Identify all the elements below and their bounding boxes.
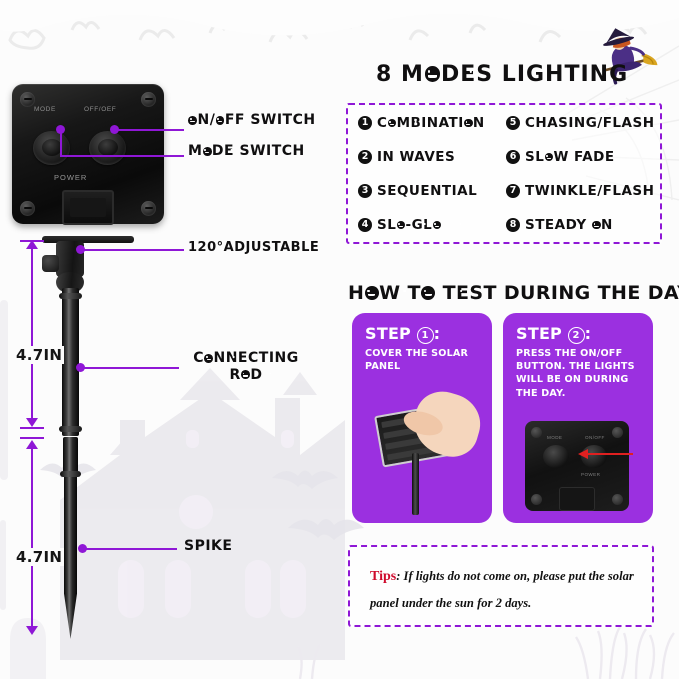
screw-icon (20, 201, 35, 216)
joint-knob (42, 255, 59, 272)
mode-item-3: 3 SEQUENTIAL (358, 174, 506, 208)
mode-item-7: 7 TWINKLE/FLASH (506, 174, 670, 208)
mode-label: SLW FADE (525, 149, 615, 165)
mode-button[interactable] (33, 131, 70, 165)
step-card-2: STEP 2: PRESS THE ON/OFF BUTTON. THE LIG… (503, 313, 653, 523)
mode-label: TWINKLE/FLASH (525, 183, 654, 199)
mode-label: SL-GL (377, 217, 441, 233)
measure-label-spike: 4.7IN (14, 548, 64, 566)
mode-item-8: 8 STEADY N (506, 208, 670, 242)
callout-leader (117, 129, 184, 131)
skull-o-glyph (592, 221, 600, 229)
callout-leader (60, 155, 184, 157)
connecting-rod (62, 288, 79, 436)
screw-icon (531, 494, 542, 505)
panel-stand (412, 453, 419, 515)
mode-item-5: 5 CHASING/FLASH (506, 106, 670, 140)
mode-item-4: 4 SL-GL (358, 208, 506, 242)
measure-tick (20, 427, 44, 429)
tips-keyword: Tips (370, 569, 396, 584)
skull-o-glyph (241, 370, 250, 379)
skull-o-glyph (204, 354, 213, 363)
measure-tick (20, 240, 44, 242)
mode-number: 8 (506, 218, 520, 232)
skull-o-glyph (216, 116, 225, 125)
test-section-title: HW T TEST DURING THE DAY? (348, 282, 679, 304)
mini-mode-label: MODE (547, 435, 562, 440)
mode-item-1: 1 CMBINATIN (358, 106, 506, 140)
skull-o-glyph (433, 221, 441, 229)
rod-ring (59, 426, 82, 432)
measure-line (31, 248, 33, 418)
skull-o-glyph (397, 221, 405, 229)
screw-icon (612, 494, 623, 505)
skull-o-glyph (365, 286, 379, 300)
step-colon: : (434, 324, 441, 343)
mode-item-6: 6 SLW FADE (506, 140, 670, 174)
skull-o-glyph (545, 153, 553, 161)
usb-port (62, 190, 114, 225)
screw-icon (141, 201, 156, 216)
mode-number: 1 (358, 116, 372, 130)
callout-leader (83, 367, 179, 369)
skull-o-glyph (464, 119, 472, 127)
mode-item-2: 2 IN WAVES (358, 140, 506, 174)
step-number: 2 (568, 327, 585, 344)
skull-o-glyph (203, 147, 212, 156)
callout-label-mode-switch: MDE SWITCH (188, 143, 305, 160)
control-box-illustration: MODE ON/OFF POWER (525, 421, 629, 511)
step-2-title: STEP 2: (516, 324, 591, 344)
skull-o-glyph (421, 286, 435, 300)
arrow-down-icon (26, 626, 38, 635)
mode-label: CMBINATIN (377, 115, 485, 131)
ground-spike (64, 477, 77, 639)
infographic-canvas: MODE OFF/OEF POWER 4.7IN (0, 0, 679, 679)
step-2-body: PRESS THE ON/OFF BUTTON. THE LIGHTS WILL… (516, 347, 643, 400)
callout-leader (83, 249, 184, 251)
callout-label-connecting-rod: CNNECTING RD (182, 350, 310, 383)
callout-label-on-off-switch: N/FF SWITCH (188, 112, 316, 129)
mode-number: 3 (358, 184, 372, 198)
tips-text: Tips: If lights do not come on, please p… (370, 563, 638, 616)
step-1-body: COVER THE SOLAR PANEL (365, 347, 482, 373)
callout-leader (85, 548, 177, 550)
pumpkin-o-glyph (425, 66, 441, 82)
step-colon: : (585, 324, 592, 343)
arrow-down-icon (26, 418, 38, 427)
mode-label: STEADY N (525, 217, 613, 233)
skull-o-glyph (388, 119, 396, 127)
rod-ring (59, 293, 82, 299)
mini-usb-port (559, 487, 595, 511)
rod-word: RD (230, 367, 263, 383)
tips-sentence: : If lights do not come on, please put t… (370, 569, 634, 610)
measure-label-rod: 4.7IN (14, 346, 64, 364)
mode-label: IN WAVES (377, 149, 455, 165)
mode-label: CHASING/FLASH (525, 115, 655, 131)
step-1-title: STEP 1: (365, 324, 440, 344)
power-label: POWER (54, 173, 87, 182)
mode-number: 6 (506, 150, 520, 164)
modes-title: 8 MDES LIGHTING (376, 62, 628, 87)
callout-label-adjustable: 120°ADJUSTABLE (188, 240, 319, 255)
mode-label: SEQUENTIAL (377, 183, 477, 199)
info-panel: 8 MDES LIGHTING 1 CMBINATIN 5 CHASING/FL… (340, 0, 679, 679)
mode-number: 7 (506, 184, 520, 198)
screw-icon (612, 427, 623, 438)
screw-icon (141, 92, 156, 107)
onoff-button[interactable] (89, 131, 126, 165)
step-card-1: STEP 1: COVER THE SOLAR PANEL (352, 313, 492, 523)
solar-control-box: MODE OFF/OEF POWER (12, 84, 164, 224)
callout-leader-vertical (60, 130, 62, 156)
mini-mode-button (543, 445, 569, 468)
modes-grid: 1 CMBINATIN 5 CHASING/FLASH 2 IN WAVES 6… (348, 105, 660, 242)
callout-label-spike: SPIKE (184, 538, 232, 555)
mode-number: 2 (358, 150, 372, 164)
red-pointer-arrow-icon (587, 453, 633, 455)
mode-number: 5 (506, 116, 520, 130)
screw-icon (20, 92, 35, 107)
onoff-button-label: OFF/OEF (84, 106, 116, 113)
skull-o-glyph (188, 116, 197, 125)
tips-box: Tips: If lights do not come on, please p… (348, 545, 654, 627)
mini-onoff-label: ON/OFF (585, 435, 605, 440)
screw-icon (531, 427, 542, 438)
product-diagram-panel: MODE OFF/OEF POWER 4.7IN (0, 0, 340, 679)
mode-button-label: MODE (34, 106, 56, 113)
connecting-word: CNNECTING (193, 350, 299, 366)
mode-number: 4 (358, 218, 372, 232)
mini-power-label: POWER (581, 472, 600, 477)
step-number: 1 (417, 327, 434, 344)
measure-tick (20, 437, 44, 439)
measure-line (31, 448, 33, 626)
spike-ring (60, 471, 81, 477)
modes-list-box: 1 CMBINATIN 5 CHASING/FLASH 2 IN WAVES 6… (346, 103, 662, 244)
